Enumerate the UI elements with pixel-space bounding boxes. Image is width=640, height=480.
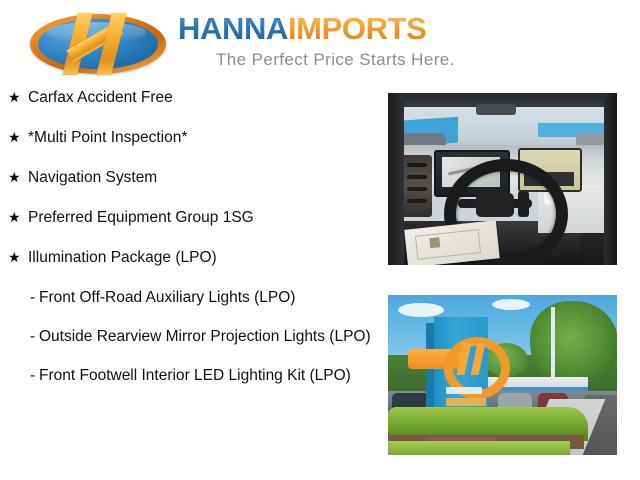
list-item: ★ Illumination Package (LPO) <box>0 248 378 267</box>
sub-list-item-label: Front Off-Road Auxiliary Lights (LPO) <box>30 288 372 307</box>
list-item: ★ Navigation System <box>0 168 378 187</box>
brand-header: HANNAIMPORTS The Perfect Price Starts He… <box>0 0 640 88</box>
sub-list-item-label: Front Footwell Interior LED Lighting Kit… <box>30 366 372 385</box>
sub-list-item: - Outside Rearview Mirror Projection Lig… <box>0 327 378 346</box>
list-item: ★ Carfax Accident Free <box>0 88 378 107</box>
sub-list-item-label: Outside Rearview Mirror Projection Light… <box>30 327 372 346</box>
brand-wordmark: HANNAIMPORTS <box>178 13 426 44</box>
sub-list-item: - Front Off-Road Auxiliary Lights (LPO) <box>0 288 378 307</box>
star-bullet-icon: ★ <box>8 208 21 227</box>
grass <box>388 441 570 455</box>
logo-h-letter <box>62 13 136 75</box>
cloud <box>398 303 444 317</box>
vehicle-features-list: ★ Carfax Accident Free ★ *Multi Point In… <box>0 88 378 405</box>
star-bullet-icon: ★ <box>8 128 21 147</box>
a-pillar-left <box>388 93 404 265</box>
dash-bullet-icon: - <box>30 288 35 307</box>
dash-bullet-icon: - <box>30 366 35 385</box>
sub-list-item: - Front Footwell Interior LED Lighting K… <box>0 366 378 385</box>
list-item-label: Navigation System <box>28 169 157 186</box>
list-item-label: Carfax Accident Free <box>28 89 173 106</box>
brand-name-secondary: IMPORTS <box>288 11 426 46</box>
steering-wheel-hub <box>476 193 514 217</box>
cloud <box>492 299 530 310</box>
list-item-label: Preferred Equipment Group 1SG <box>28 209 254 226</box>
dealership-sign-photo[interactable] <box>388 295 617 455</box>
brand-tagline: The Perfect Price Starts Here. <box>216 50 455 70</box>
brand-name-primary: HANNA <box>178 11 288 46</box>
list-item: ★ *Multi Point Inspection* <box>0 128 378 147</box>
list-item: ★ Preferred Equipment Group 1SG <box>0 208 378 227</box>
a-pillar-right <box>604 93 617 265</box>
dash-bullet-icon: - <box>30 327 35 346</box>
star-bullet-icon: ★ <box>8 248 21 267</box>
list-item-label: *Multi Point Inspection* <box>28 129 187 146</box>
star-bullet-icon: ★ <box>8 88 21 107</box>
list-item-label: Illumination Package (LPO) <box>28 249 217 266</box>
rearview-mirror <box>476 104 516 115</box>
sign-text-imports <box>446 398 486 406</box>
tree <box>530 301 617 383</box>
dashboard-vent <box>402 155 432 217</box>
vehicle-interior-photo[interactable] <box>388 93 617 265</box>
star-bullet-icon: ★ <box>8 168 21 187</box>
hanna-oval-h-logo-icon <box>22 11 174 77</box>
sign-text-hanna <box>446 387 482 394</box>
